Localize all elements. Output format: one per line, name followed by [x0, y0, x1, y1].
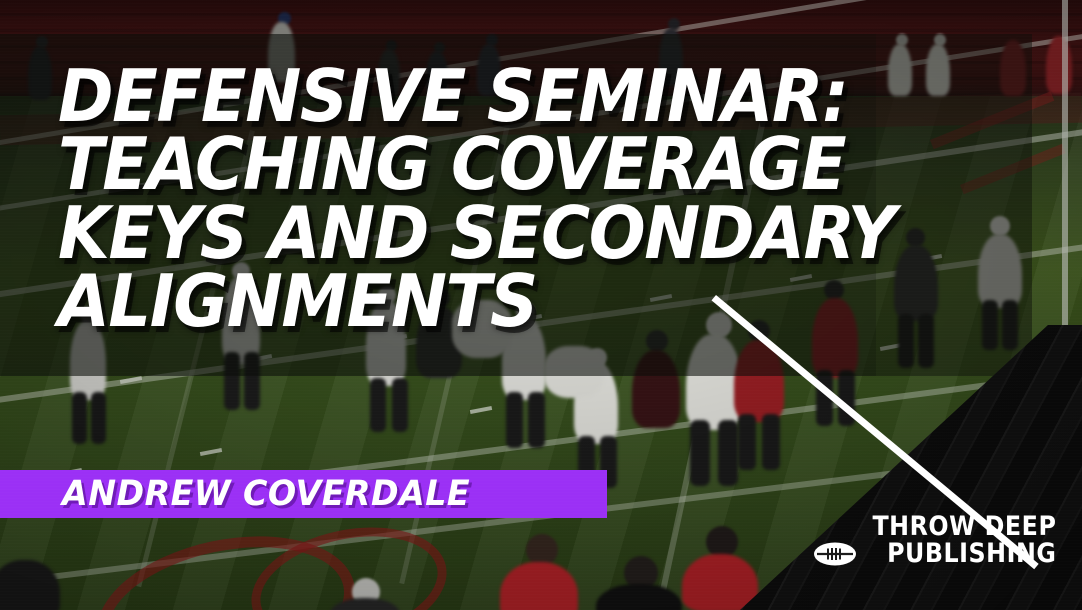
player-leg [244, 352, 260, 410]
person-silhouette [926, 44, 950, 96]
page-title: Defensive Seminar: Teaching Coverage Key… [58, 62, 923, 336]
player-silhouette [734, 340, 784, 422]
brand-logo: Throw Deep Publishing [813, 513, 1056, 568]
brand-logo-line-1: Throw Deep [842, 513, 1056, 541]
player-leg [718, 420, 738, 486]
player-silhouette [978, 234, 1022, 308]
brand-logo-row-2: Publishing [813, 540, 1056, 568]
player-leg [370, 378, 386, 432]
player-leg [1002, 300, 1018, 350]
player-leg [528, 392, 545, 448]
player-leg [816, 370, 833, 426]
brand-logo-line-2: Publishing [887, 540, 1056, 568]
person-silhouette [1046, 36, 1072, 94]
person-silhouette [28, 46, 52, 100]
player-silhouette [632, 350, 680, 428]
player-leg [690, 420, 710, 486]
person-silhouette [682, 554, 758, 610]
author-banner: Andrew Coverdale [0, 470, 607, 518]
player-silhouette [990, 216, 1010, 236]
player-leg [738, 414, 756, 470]
player-leg [982, 300, 998, 350]
author-name: Andrew Coverdale [62, 474, 470, 514]
goalpost-pole [1062, 0, 1068, 330]
person-silhouette [1000, 40, 1026, 96]
player-leg [838, 370, 855, 426]
player-leg [91, 392, 106, 444]
player-leg [762, 414, 780, 470]
player-leg [506, 392, 523, 448]
football-icon [813, 541, 857, 567]
player-leg [72, 392, 87, 444]
player-leg [224, 352, 240, 410]
video-thumbnail: Defensive Seminar: Teaching Coverage Key… [0, 0, 1082, 610]
player-leg [392, 378, 408, 432]
player-silhouette [544, 346, 604, 398]
